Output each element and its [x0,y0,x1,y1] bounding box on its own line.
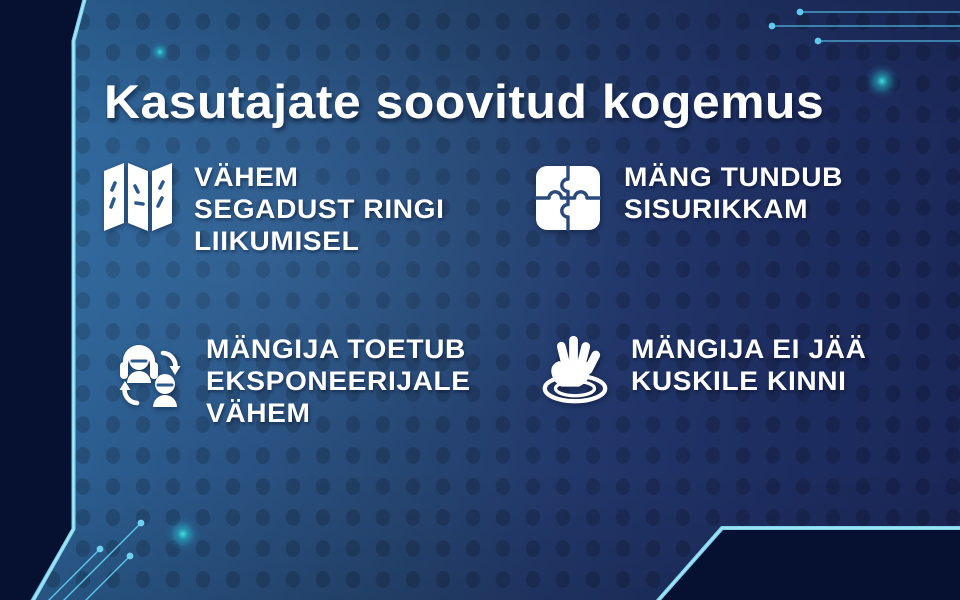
feature-item-richer-game: MÄNG TUNDUB SISURIKKAM [530,160,930,332]
feature-item-never-stuck: MÄNGIJA EI JÄÄ KUSKILE KINNI [537,332,930,430]
feature-row-1: VÄHEM SEGADUST RINGI LIIKUMISEL [100,160,930,332]
glow-dot-top-right [865,64,899,98]
left-corner-panel [0,0,110,600]
hand-stuck-in-ring-icon [537,332,613,408]
page-title: Kasutajate soovitud kogemus [104,74,824,129]
feature-item-less-confusion: VÄHEM SEGADUST RINGI LIIKUMISEL [100,160,530,332]
feature-item-less-staff-reliance: MÄNGIJA TOETUB EKSPONEERIJALE VÄHEM [112,332,535,430]
folded-map-icon [100,160,176,236]
feature-row-2: MÄNGIJA TOETUB EKSPONEERIJALE VÄHEM [100,332,930,430]
feature-grid: VÄHEM SEGADUST RINGI LIIKUMISEL [100,160,930,430]
feature-label: VÄHEM SEGADUST RINGI LIIKUMISEL [194,160,445,258]
feature-label: MÄNGIJA TOETUB EKSPONEERIJALE VÄHEM [206,332,471,430]
bottom-right-corner-panel [634,494,960,600]
glow-dot-mid-left [150,42,170,62]
puzzle-pieces-icon [530,160,606,236]
slide-canvas: Kasutajate soovitud kogemus [0,0,960,600]
feature-label: MÄNG TUNDUB SISURIKKAM [624,160,843,226]
glow-dot-bottom-left [166,517,200,551]
feature-label: MÄNGIJA EI JÄÄ KUSKILE KINNI [631,332,866,398]
headset-support-exchange-icon [112,332,188,408]
